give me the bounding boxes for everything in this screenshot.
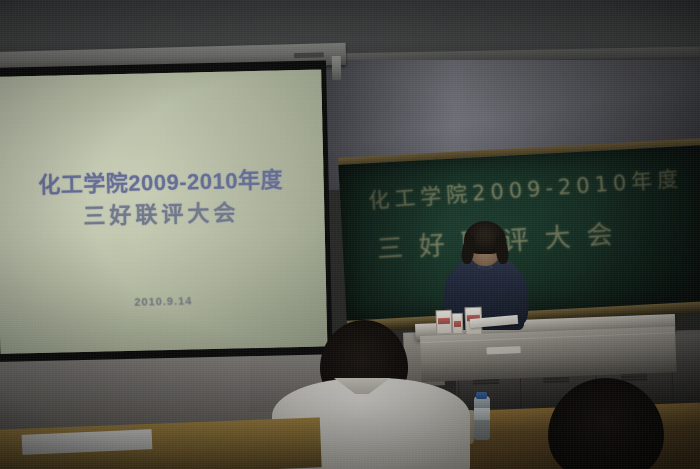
screen-mount-bracket — [332, 56, 342, 80]
bottle-cap[interactable] — [476, 392, 487, 399]
slide-text-block: 化工学院2009-2010年度 三好联评大会 — [0, 164, 330, 236]
bottle-label — [474, 408, 490, 420]
box-red-band — [438, 318, 450, 324]
housing-brand-label — [294, 52, 324, 58]
podium-front-panel — [420, 326, 677, 382]
podium-name-plate — [486, 346, 520, 354]
chalk-box[interactable] — [436, 310, 453, 335]
box-red-band — [454, 321, 461, 327]
projection-screen[interactable]: 化工学院2009-2010年度 三好联评大会 2010.9.14 — [0, 60, 333, 362]
classroom-photo: 化工学院2009-2010年度 三好联评大会 2010.9.14 化工学院200… — [0, 0, 700, 469]
chalk-box[interactable] — [452, 313, 464, 334]
